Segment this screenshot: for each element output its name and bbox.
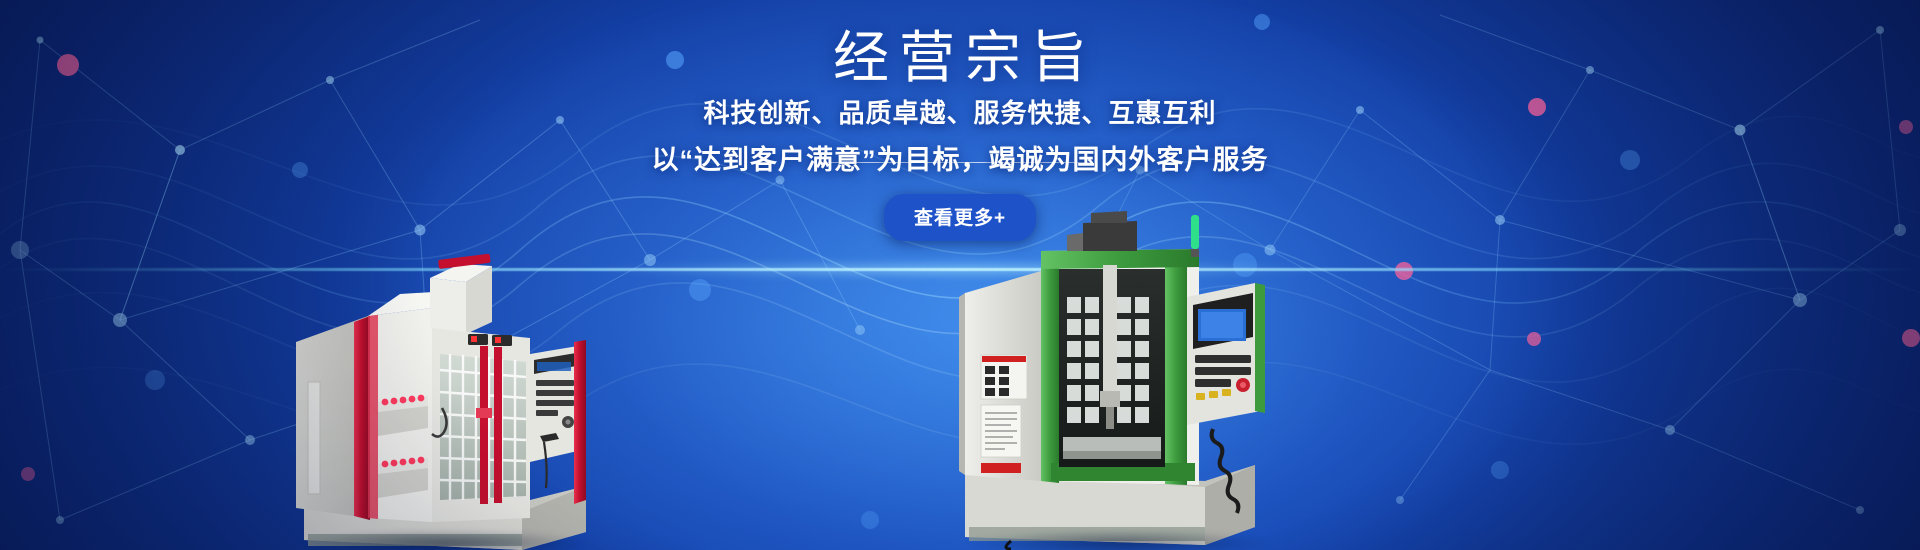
banner-content: 经营宗旨 科技创新、品质卓越、服务快捷、互惠互利 以“达到客户满意”为目标，竭诚…: [0, 0, 1920, 550]
banner-subtitle: 科技创新、品质卓越、服务快捷、互惠互利: [0, 97, 1920, 130]
hero-banner: 经营宗旨 科技创新、品质卓越、服务快捷、互惠互利 以“达到客户满意”为目标，竭诚…: [0, 0, 1920, 550]
view-more-button[interactable]: 查看更多+: [884, 194, 1036, 241]
banner-tagline: 以“达到客户满意”为目标，竭诚为国内外客户服务: [652, 145, 1269, 175]
cta-wrapper: 查看更多+: [0, 194, 1920, 241]
page-title: 经营宗旨: [0, 28, 1920, 88]
